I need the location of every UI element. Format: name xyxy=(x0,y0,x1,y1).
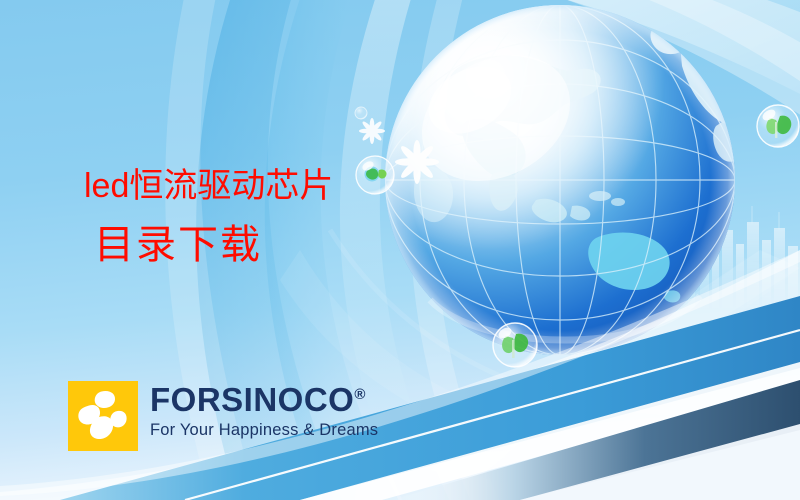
bubble-small xyxy=(355,107,367,119)
daisy-large xyxy=(395,140,439,184)
brand-logo[interactable]: FORSINOCO® For Your Happiness & Dreams xyxy=(68,381,378,451)
daisy-small xyxy=(359,118,385,144)
pinwheel-flower-icon xyxy=(68,381,138,451)
brand-name: FORSINOCO® xyxy=(150,383,378,417)
brand-name-text: FORSINOCO xyxy=(150,381,354,418)
bubble-leaf xyxy=(493,323,537,367)
bubble-corner xyxy=(757,105,799,147)
registered-trademark-icon: ® xyxy=(354,386,365,403)
bubble-globe xyxy=(356,156,394,194)
promo-banner: led恒流驱动芯片 目录下载 FORSINOCO® For Your Happi… xyxy=(0,0,800,500)
brand-tagline: For Your Happiness & Dreams xyxy=(150,420,378,440)
logo-wordmark: FORSINOCO® For Your Happiness & Dreams xyxy=(150,381,378,440)
